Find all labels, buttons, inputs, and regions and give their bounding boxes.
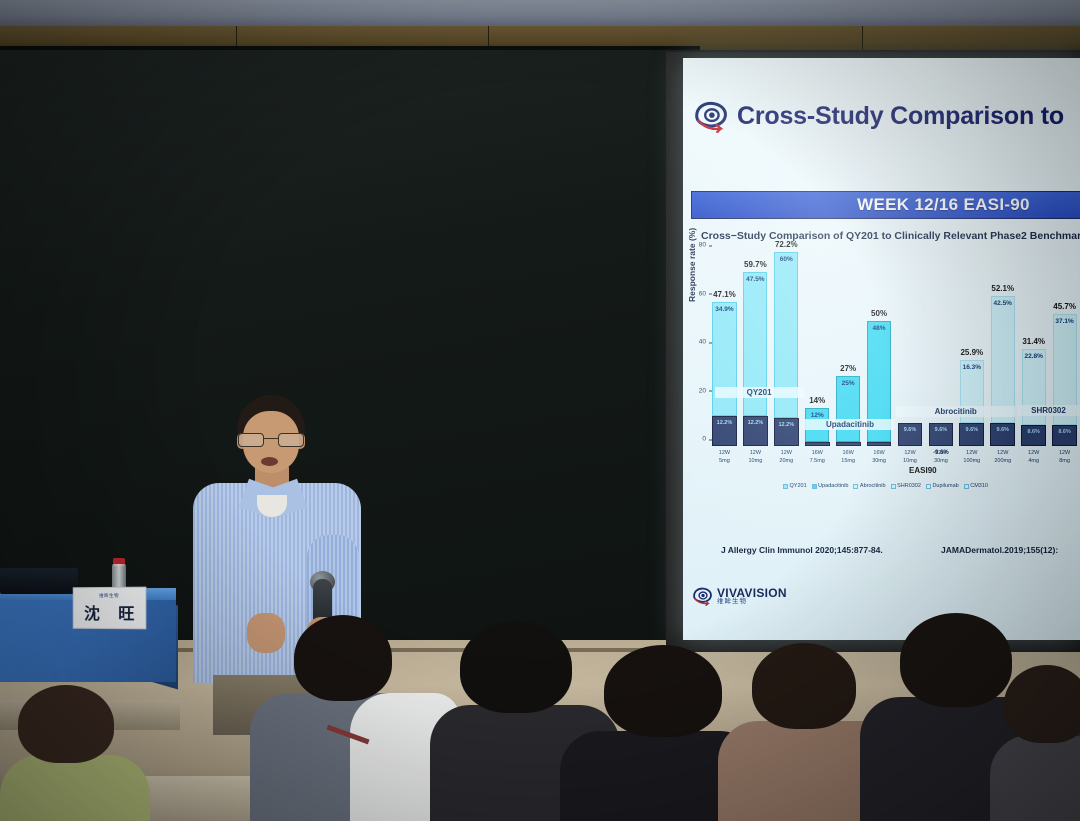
glasses-lens bbox=[278, 433, 304, 447]
chart-area: Response rate (%) 020406080 47.1%34.9%12… bbox=[687, 244, 1080, 469]
chart-x-tick: 12W 200mg bbox=[987, 450, 1018, 472]
footer-logo-en: VIVAVISION bbox=[717, 587, 787, 599]
footer-logo-text: VIVAVISION 维眸生物 bbox=[717, 587, 787, 606]
chart-bar-total-label: 59.7% bbox=[744, 260, 767, 269]
chart-bar-treatment: 27%25% bbox=[836, 376, 860, 441]
chart-x-axis-label: EASI90 bbox=[909, 466, 937, 475]
legend-label: Abrocitinib bbox=[860, 483, 886, 489]
glasses-bridge bbox=[264, 438, 278, 439]
projection-screen: Cross-Study Comparison to WEEK 12/16 EAS… bbox=[683, 58, 1080, 640]
chart-x-tick: 16W 30mg bbox=[864, 450, 895, 472]
chart-bar-inner-label: 47.5% bbox=[746, 276, 764, 283]
vivavision-eye-logo-icon bbox=[693, 99, 729, 133]
legend-label: Upadacitinib bbox=[818, 483, 848, 489]
chart-legend-item: Upadacitinib bbox=[812, 483, 849, 489]
legend-swatch bbox=[926, 484, 931, 489]
glasses-lens bbox=[238, 433, 264, 447]
chart-y-tick: 20 bbox=[699, 387, 709, 394]
chart-group-band: Abrocitinib bbox=[896, 406, 1015, 417]
wall-seam bbox=[862, 26, 863, 52]
chart-bar-total-label: 50% bbox=[871, 309, 887, 318]
slide-header: Cross-Study Comparison to bbox=[683, 88, 1080, 144]
chart-bar-total-label: 14% bbox=[809, 396, 825, 405]
chart-bar-treatment: 52.1%42.5% bbox=[991, 296, 1015, 422]
chart-group-band: Upadacitinib bbox=[805, 419, 894, 430]
chart-plot: 020406080 47.1%34.9%12.2%59.7%47.5%12.2%… bbox=[709, 252, 1080, 446]
chart-bar-placebo-label: 9.6% bbox=[996, 427, 1009, 433]
chart-bar-slot: 45.7%37.1%8.6% bbox=[1049, 252, 1080, 446]
chart-bar-placebo: 8.6% bbox=[1021, 425, 1046, 446]
chart-bar-slot: 27%25% bbox=[833, 252, 864, 446]
chart-bar-placebo: 12.2% bbox=[774, 418, 799, 446]
chart-x-tick: 12W 20mg bbox=[771, 450, 802, 472]
chart-bar-placebo bbox=[836, 442, 861, 446]
chart-legend-item: Abrocitinib bbox=[853, 483, 885, 489]
citation-left: J Allergy Clin Immunol 2020;145:877-84. bbox=[721, 545, 883, 555]
chart-bar-placebo: 9.6%-9.6% bbox=[929, 423, 954, 446]
chart-bar-placebo: 9.6% bbox=[959, 423, 984, 446]
audience-member bbox=[0, 701, 150, 821]
chart-bars: 47.1%34.9%12.2%59.7%47.5%12.2%72.2%60%12… bbox=[709, 252, 1080, 446]
chart-x-tick: 16W 15mg bbox=[833, 450, 864, 472]
citation-right: JAMADermatol.2019;155(12): bbox=[941, 545, 1058, 555]
legend-label: Dupilumab bbox=[932, 483, 958, 489]
chart-bar-total-label: 27% bbox=[840, 364, 856, 373]
chart-bar-placebo-label: 12.2% bbox=[778, 422, 794, 428]
chart-bar-total-label: 52.1% bbox=[991, 284, 1014, 293]
chart-bar-total-label: 25.9% bbox=[960, 348, 983, 357]
chart-x-tick: 12W 4mg bbox=[1018, 450, 1049, 472]
chart-bar-inner-label: 12% bbox=[811, 412, 824, 419]
chart-bar-inner-label: 22.8% bbox=[1024, 353, 1042, 360]
chart-bar-placebo-label: 12.2% bbox=[717, 420, 733, 426]
chart-bar-placebo-label: 8.6% bbox=[1027, 429, 1040, 435]
vivavision-eye-logo-icon bbox=[692, 586, 713, 606]
chart-bar-inner-label: 25% bbox=[842, 380, 855, 387]
chart-x-tick: 12W 100mg bbox=[956, 450, 987, 472]
chart-y-tick: 0 bbox=[702, 436, 709, 443]
chart-bar-slot: 50%48% bbox=[864, 252, 895, 446]
chart-y-tick: 40 bbox=[699, 339, 709, 346]
chart-bar-inner-label: 37.1% bbox=[1055, 318, 1073, 325]
chart-bar-inner-label: 48% bbox=[873, 325, 886, 332]
chart-x-tick: 12W 5mg bbox=[709, 450, 740, 472]
chart-y-axis-label: Response rate (%) bbox=[687, 228, 697, 302]
chart-bar-total-label: 31.4% bbox=[1022, 337, 1045, 346]
chart-bar-inner-label: 34.9% bbox=[715, 306, 733, 313]
chart-bar-total-label: 47.1% bbox=[713, 290, 736, 299]
chart-bar-treatment: 47.1%34.9% bbox=[712, 302, 736, 416]
chart-bar-placebo-label: 8.6% bbox=[1058, 429, 1071, 435]
chart-bar-placebo-label: 9.6% bbox=[935, 427, 948, 433]
chart-bar-placebo bbox=[867, 442, 892, 446]
chart-group-band: QY201 bbox=[715, 387, 804, 398]
legend-swatch bbox=[853, 484, 858, 489]
chart-bar-inner-label: 16.3% bbox=[963, 364, 981, 371]
legend-swatch bbox=[783, 484, 788, 489]
chart-bar-slot: 72.2%60%12.2% bbox=[771, 252, 802, 446]
chart-bar-placebo-label: 9.6% bbox=[904, 427, 917, 433]
chart-bar-slot: 31.4%22.8%8.6% bbox=[1018, 252, 1049, 446]
chart-legend-item: CM310 bbox=[964, 483, 988, 489]
chart-caption: Cross−Study Comparison of QY201 to Clini… bbox=[701, 230, 1080, 242]
nameplate-logo: 维眸生物 bbox=[99, 592, 119, 598]
nameplate: 维眸生物 沈 旺 bbox=[73, 587, 147, 630]
chart-bar-placebo-label: 12.2% bbox=[748, 420, 764, 426]
chart-bar-placebo-label: 9.6% bbox=[966, 427, 979, 433]
week-banner: WEEK 12/16 EASI-90 bbox=[691, 191, 1080, 219]
nameplate-name: 沈 旺 bbox=[77, 599, 141, 623]
chart-bar-total-label: 45.7% bbox=[1053, 302, 1076, 311]
chart-bar-slot: 59.7%47.5%12.2% bbox=[740, 252, 771, 446]
chart-legend-item: SHR0302 bbox=[891, 483, 921, 489]
chart-x-ticks: 12W 5mg12W 10mg12W 20mg16W 7.5mg16W 15mg… bbox=[709, 450, 1080, 472]
presentation-photo-scene: Cross-Study Comparison to WEEK 12/16 EAS… bbox=[0, 0, 1080, 821]
chart-bar-placebo: 12.2% bbox=[743, 416, 768, 446]
chart-legend: QY201UpadacitinibAbrocitinibSHR0302Dupil… bbox=[783, 483, 988, 489]
chart-group-band: SHR0302 bbox=[1017, 405, 1080, 416]
chart-x-tick: 16W 7.5mg bbox=[802, 450, 833, 472]
legend-label: QY201 bbox=[790, 483, 807, 489]
legend-swatch bbox=[891, 484, 896, 489]
presenter-mouth bbox=[261, 457, 278, 466]
chart-bar-placebo bbox=[805, 442, 830, 446]
chart-bar-placebo: 9.6% bbox=[990, 423, 1015, 446]
chart-x-tick: 12W 10mg bbox=[740, 450, 771, 472]
legend-swatch bbox=[812, 484, 817, 489]
legend-swatch bbox=[964, 484, 969, 489]
chart-bar-placebo: 12.2% bbox=[712, 416, 737, 446]
audience-member bbox=[990, 671, 1080, 821]
ceiling bbox=[0, 0, 1080, 28]
chart-bar-slot: 14%12% bbox=[802, 252, 833, 446]
chart-bar-total-label: 72.2% bbox=[775, 240, 798, 249]
laptop bbox=[0, 568, 78, 594]
chart-y-tick: 80 bbox=[699, 242, 709, 249]
glasses-icon bbox=[237, 433, 307, 447]
legend-label: SHR0302 bbox=[897, 483, 921, 489]
chart-legend-item: Dupilumab bbox=[926, 483, 959, 489]
chart-legend-item: QY201 bbox=[783, 483, 807, 489]
chart-y-tick: 60 bbox=[699, 290, 709, 297]
chart-bar-inner-label: 42.5% bbox=[994, 300, 1012, 307]
chart-bar-slot: 47.1%34.9%12.2% bbox=[709, 252, 740, 446]
slide-footer-logo: VIVAVISION 维眸生物 bbox=[692, 586, 787, 606]
chart-x-tick: 12W 8mg bbox=[1049, 450, 1080, 472]
chart-bar-inner-label: 60% bbox=[780, 256, 793, 263]
legend-label: CM310 bbox=[970, 483, 988, 489]
slide-title: Cross-Study Comparison to bbox=[737, 102, 1064, 131]
chart-bar-placebo: 8.6% bbox=[1052, 425, 1077, 446]
week-banner-label: WEEK 12/16 EASI-90 bbox=[747, 195, 1030, 215]
chart-bar-placebo: 9.6% bbox=[898, 423, 923, 446]
